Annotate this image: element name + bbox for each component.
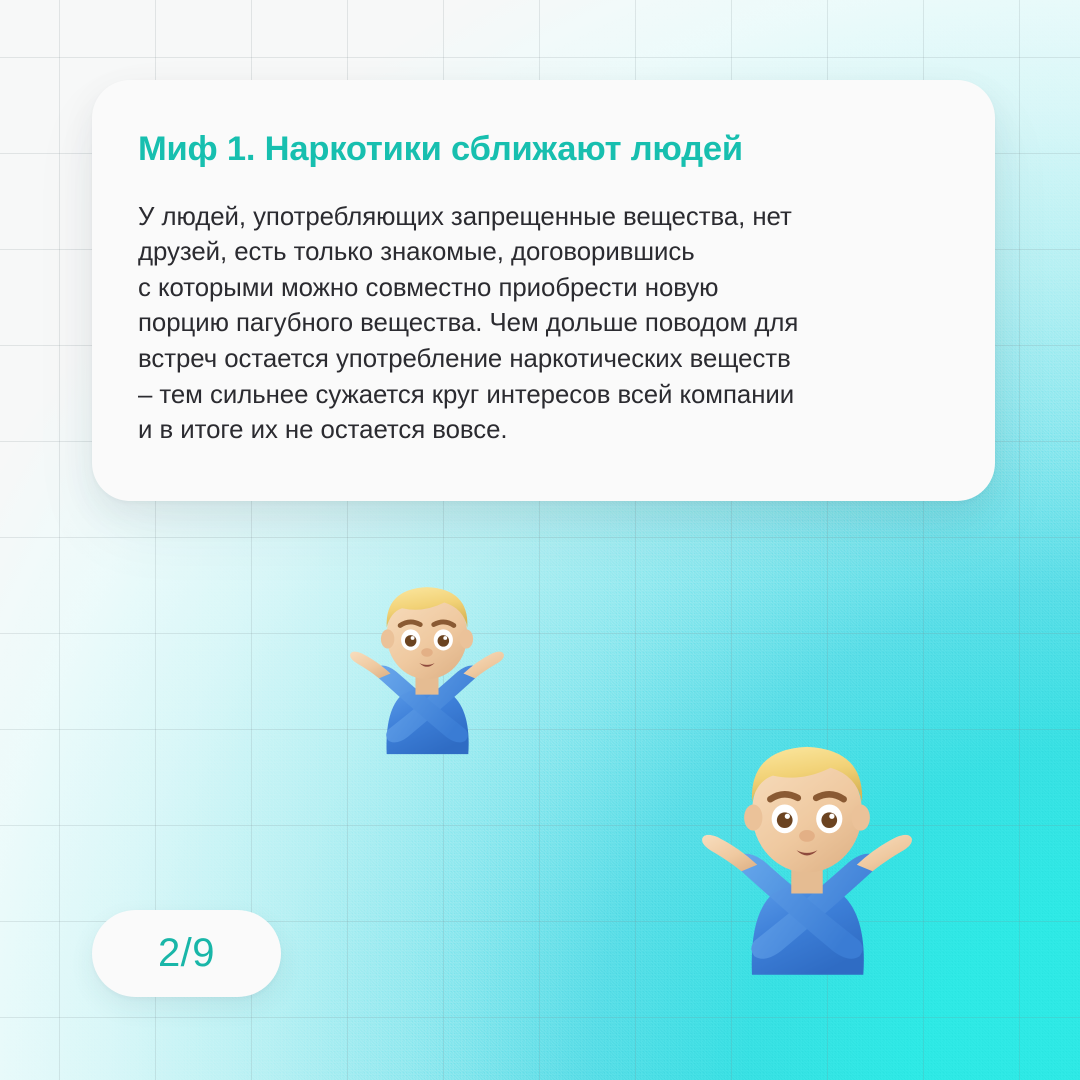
man-gesturing-no-icon — [676, 718, 938, 980]
card-body-text: У людей, употребляющих запрещенные вещес… — [138, 200, 947, 449]
myth-card: Миф 1. Наркотики сближают людей У людей,… — [92, 80, 995, 501]
page-counter-badge: 2/9 — [92, 910, 281, 997]
page-counter-label: 2/9 — [158, 931, 215, 976]
card-title: Миф 1. Наркотики сближают людей — [138, 130, 947, 170]
slide-canvas: Миф 1. Наркотики сближают людей У людей,… — [0, 0, 1080, 1080]
man-gesturing-no-icon — [331, 566, 523, 758]
